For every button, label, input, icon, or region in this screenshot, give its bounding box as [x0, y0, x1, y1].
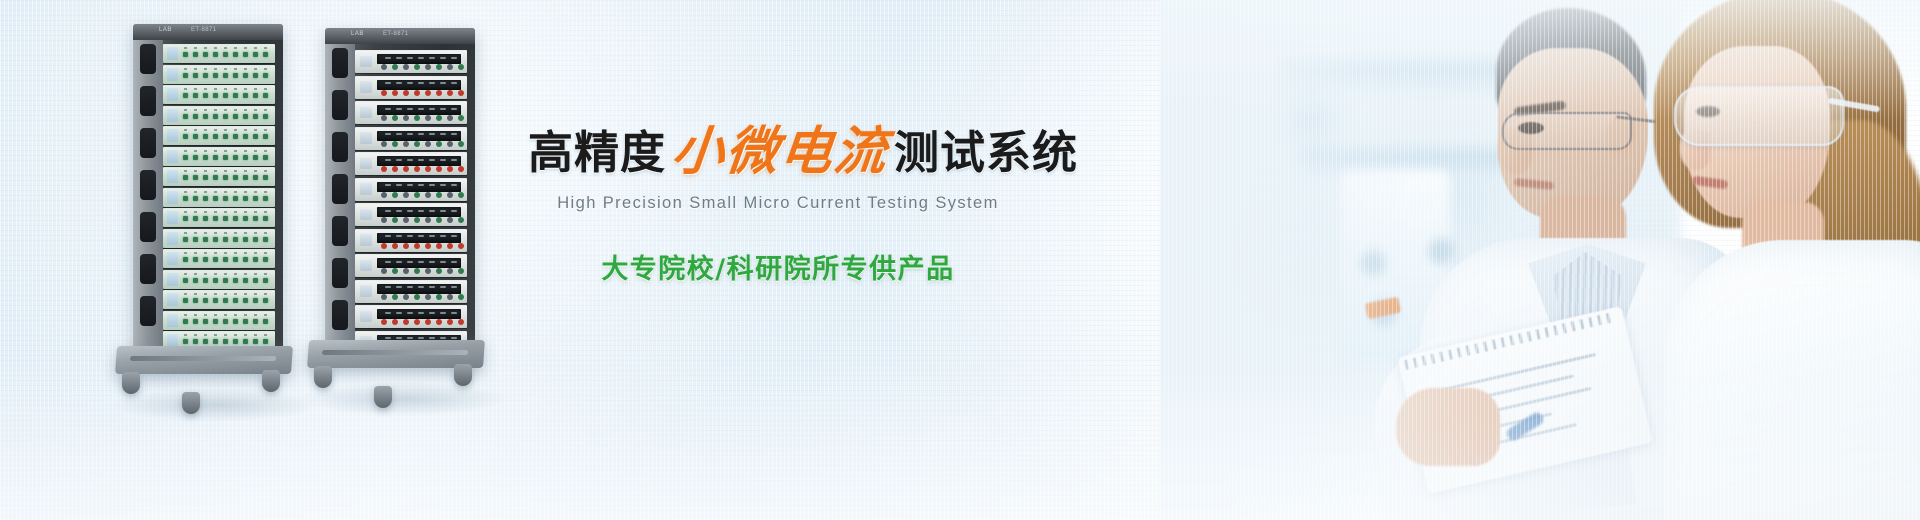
display-digit — [407, 286, 413, 288]
rack-post-slot — [140, 170, 156, 200]
display-digit — [429, 312, 435, 314]
module-tick — [254, 88, 257, 90]
display-digit — [407, 57, 413, 59]
module-channel-port — [213, 175, 218, 180]
rack-top-cap: LAB ET-8871 — [325, 28, 475, 44]
module-channel-port — [183, 298, 188, 303]
rack-post-slot — [332, 90, 348, 120]
module-button — [392, 192, 398, 198]
display-digit — [440, 108, 446, 110]
module-tick — [234, 314, 237, 316]
module-display — [167, 232, 178, 245]
rack-shadow — [110, 388, 320, 422]
display-digit — [429, 57, 435, 59]
module-tick — [224, 68, 227, 70]
headline: 高精度小微电流测试系统 — [528, 126, 1028, 178]
module-tick — [234, 170, 237, 172]
display-digit — [396, 133, 402, 135]
display-digit — [451, 82, 457, 84]
display-digit — [396, 82, 402, 84]
module-button — [436, 268, 442, 274]
module-tick — [254, 150, 257, 152]
module-channel-port — [213, 257, 218, 262]
module-button — [458, 294, 464, 300]
rack-instrument-module — [163, 85, 275, 104]
module-tick — [264, 68, 267, 70]
module-channel-port — [223, 216, 228, 221]
display-digit — [429, 210, 435, 212]
module-knob — [360, 311, 372, 322]
rack-post-slot — [332, 258, 348, 288]
module-channel-port — [243, 155, 248, 160]
module-tick — [264, 191, 267, 193]
display-digit — [396, 286, 402, 288]
module-display — [167, 314, 178, 327]
module-led-display — [377, 182, 461, 192]
module-tick — [234, 68, 237, 70]
module-knob — [360, 260, 372, 271]
module-button — [425, 115, 431, 121]
module-tick — [224, 129, 227, 131]
module-tick — [204, 88, 207, 90]
module-button — [381, 268, 387, 274]
module-tick — [244, 314, 247, 316]
module-tick — [234, 232, 237, 234]
rack-instrument-module — [163, 270, 275, 289]
module-channel-port — [193, 155, 198, 160]
module-tick — [204, 211, 207, 213]
module-channel-port — [203, 257, 208, 262]
module-tick — [194, 68, 197, 70]
rack-instrument-module — [163, 147, 275, 166]
subtitle-english: High Precision Small Micro Current Testi… — [528, 194, 1028, 213]
display-digit — [396, 210, 402, 212]
module-knob — [360, 81, 372, 92]
module-channel-port — [243, 319, 248, 324]
module-tick — [224, 334, 227, 336]
module-button — [392, 243, 398, 249]
display-digit — [440, 210, 446, 212]
display-digit — [451, 312, 457, 314]
module-channel-port — [223, 257, 228, 262]
module-tick — [194, 88, 197, 90]
module-channel-port — [233, 155, 238, 160]
rack-instrument-module — [355, 254, 467, 277]
module-button — [403, 115, 409, 121]
module-tick — [234, 191, 237, 193]
module-tick — [204, 273, 207, 275]
module-button — [458, 90, 464, 96]
module-channel-port — [183, 52, 188, 57]
module-tick — [264, 47, 267, 49]
module-button — [414, 115, 420, 121]
module-button — [447, 141, 453, 147]
module-tick — [214, 47, 217, 49]
module-display — [167, 170, 178, 183]
display-digit — [418, 312, 424, 314]
module-channel-port — [223, 298, 228, 303]
module-channel-port — [263, 298, 268, 303]
module-button — [458, 243, 464, 249]
module-led-display — [377, 284, 461, 294]
module-led-display — [377, 54, 461, 64]
module-tick — [194, 314, 197, 316]
display-digit — [440, 235, 446, 237]
module-display — [167, 293, 178, 306]
rack-post-slot — [332, 174, 348, 204]
module-channel-port — [193, 298, 198, 303]
display-digit — [407, 210, 413, 212]
module-channel-port — [223, 237, 228, 242]
module-tick — [244, 129, 247, 131]
module-button — [447, 192, 453, 198]
module-tick — [204, 129, 207, 131]
module-tick — [194, 293, 197, 295]
module-button — [392, 268, 398, 274]
module-button — [403, 192, 409, 198]
module-channel-port — [193, 52, 198, 57]
module-tick — [214, 314, 217, 316]
module-channel-port — [203, 196, 208, 201]
module-button — [414, 141, 420, 147]
module-tick — [234, 252, 237, 254]
module-channel-port — [223, 52, 228, 57]
display-digit — [407, 82, 413, 84]
rack-instrument-module — [163, 44, 275, 63]
module-channel-port — [223, 278, 228, 283]
module-display — [167, 211, 178, 224]
rack-instrument-module — [163, 188, 275, 207]
display-digit — [407, 108, 413, 110]
module-button — [381, 243, 387, 249]
module-tick — [264, 211, 267, 213]
module-tick — [264, 88, 267, 90]
module-led-display — [377, 309, 461, 319]
module-tick — [204, 191, 207, 193]
module-tick — [244, 150, 247, 152]
module-button — [458, 268, 464, 274]
module-tick — [254, 129, 257, 131]
module-tick — [264, 109, 267, 111]
module-button — [436, 192, 442, 198]
module-channel-port — [263, 339, 268, 344]
rack-instrument-module — [163, 65, 275, 84]
module-channel-port — [263, 52, 268, 57]
module-channel-port — [253, 52, 258, 57]
module-button — [447, 90, 453, 96]
module-button — [436, 141, 442, 147]
module-tick — [184, 68, 187, 70]
module-tick — [264, 170, 267, 172]
module-channel-port — [233, 175, 238, 180]
module-channel-port — [193, 339, 198, 344]
module-channel-port — [193, 73, 198, 78]
display-digit — [407, 261, 413, 263]
module-channel-port — [223, 114, 228, 119]
module-tick — [194, 109, 197, 111]
module-channel-port — [203, 93, 208, 98]
rack-instrument-module — [163, 311, 275, 330]
module-button — [403, 90, 409, 96]
module-tick — [224, 191, 227, 193]
module-channel-port — [223, 93, 228, 98]
module-channel-port — [223, 319, 228, 324]
module-tick — [254, 314, 257, 316]
module-tick — [214, 170, 217, 172]
module-tick — [194, 129, 197, 131]
module-tick — [184, 191, 187, 193]
rack-instrument-module — [163, 167, 275, 186]
module-display — [167, 273, 178, 286]
module-channel-port — [193, 278, 198, 283]
module-channel-port — [203, 155, 208, 160]
display-digit — [451, 235, 457, 237]
module-channel-port — [233, 73, 238, 78]
module-tick — [234, 211, 237, 213]
module-knob — [360, 234, 372, 245]
module-button — [436, 243, 442, 249]
module-channel-port — [193, 319, 198, 324]
module-button — [414, 243, 420, 249]
rack-shadow — [300, 382, 510, 416]
module-tick — [214, 334, 217, 336]
display-digit — [418, 57, 424, 59]
module-tick — [234, 334, 237, 336]
module-button — [403, 268, 409, 274]
module-button — [447, 64, 453, 70]
module-channel-port — [213, 339, 218, 344]
module-button — [392, 319, 398, 325]
module-channel-port — [233, 298, 238, 303]
module-button — [425, 141, 431, 147]
module-channel-port — [213, 73, 218, 78]
module-tick — [234, 273, 237, 275]
module-channel-port — [203, 216, 208, 221]
module-button — [447, 243, 453, 249]
display-digit — [407, 184, 413, 186]
module-channel-port — [253, 216, 258, 221]
module-channel-port — [183, 339, 188, 344]
module-button — [458, 217, 464, 223]
module-channel-port — [243, 175, 248, 180]
module-tick — [184, 273, 187, 275]
module-display — [167, 252, 178, 265]
module-channel-port — [213, 216, 218, 221]
module-tick — [194, 191, 197, 193]
rack-base-rail — [130, 356, 276, 361]
display-digit — [418, 286, 424, 288]
equipment-rack-green: LAB ET-8871 — [133, 24, 283, 354]
module-channel-port — [213, 155, 218, 160]
module-tick — [244, 170, 247, 172]
display-digit — [451, 210, 457, 212]
module-channel-port — [183, 114, 188, 119]
module-channel-port — [183, 278, 188, 283]
display-digit — [451, 108, 457, 110]
module-tick — [244, 88, 247, 90]
module-tick — [224, 273, 227, 275]
module-channel-port — [183, 134, 188, 139]
display-digit — [418, 235, 424, 237]
module-tick — [254, 232, 257, 234]
module-channel-port — [243, 52, 248, 57]
module-button — [414, 192, 420, 198]
display-digit — [451, 184, 457, 186]
rack-instrument-module — [355, 76, 467, 99]
module-channel-port — [243, 278, 248, 283]
module-button — [447, 166, 453, 172]
rack-instrument-module — [355, 152, 467, 175]
module-button — [403, 141, 409, 147]
module-tick — [264, 293, 267, 295]
rack-caster — [122, 372, 140, 394]
module-button — [447, 115, 453, 121]
module-channel-port — [263, 319, 268, 324]
module-channel-port — [253, 339, 258, 344]
module-channel-port — [263, 278, 268, 283]
module-button — [403, 217, 409, 223]
module-tick — [214, 150, 217, 152]
module-tick — [224, 47, 227, 49]
display-digit — [451, 261, 457, 263]
module-button — [458, 115, 464, 121]
headline-part-1: 高精度 — [528, 130, 666, 175]
rack-instrument-module — [355, 203, 467, 226]
display-digit — [451, 133, 457, 135]
module-tick — [194, 170, 197, 172]
display-digit — [429, 337, 435, 339]
rack-instrument-module — [163, 106, 275, 125]
module-button — [392, 217, 398, 223]
module-channel-port — [263, 73, 268, 78]
module-channel-port — [253, 196, 258, 201]
module-channel-port — [253, 155, 258, 160]
rack-base-rail — [322, 350, 468, 355]
module-button — [436, 90, 442, 96]
module-channel-port — [203, 52, 208, 57]
display-digit — [429, 235, 435, 237]
module-button — [447, 294, 453, 300]
module-tick — [194, 252, 197, 254]
module-tick — [214, 252, 217, 254]
display-digit — [418, 108, 424, 110]
display-digit — [396, 184, 402, 186]
module-button — [458, 64, 464, 70]
module-tick — [194, 232, 197, 234]
module-channel-port — [203, 237, 208, 242]
module-tick — [224, 150, 227, 152]
module-button — [447, 268, 453, 274]
module-tick — [184, 252, 187, 254]
module-button — [458, 319, 464, 325]
display-digit — [440, 184, 446, 186]
display-digit — [396, 337, 402, 339]
module-tick — [204, 232, 207, 234]
module-tick — [204, 252, 207, 254]
module-led-display — [377, 80, 461, 90]
module-channel-port — [213, 134, 218, 139]
display-digit — [418, 159, 424, 161]
module-button — [381, 115, 387, 121]
display-digit — [440, 261, 446, 263]
rack-left-post — [133, 24, 163, 354]
module-tick — [264, 232, 267, 234]
module-button — [403, 64, 409, 70]
module-display — [167, 109, 178, 122]
rack-instrument-module — [163, 249, 275, 268]
module-button — [381, 90, 387, 96]
module-tick — [254, 273, 257, 275]
module-channel-port — [183, 319, 188, 324]
rack-post-slot — [140, 86, 156, 116]
module-tick — [184, 334, 187, 336]
module-channel-port — [243, 93, 248, 98]
module-channel-port — [223, 175, 228, 180]
module-channel-port — [223, 73, 228, 78]
module-display — [167, 47, 178, 60]
banner-copy: 高精度小微电流测试系统 High Precision Small Micro C… — [528, 126, 1028, 286]
module-button — [381, 294, 387, 300]
module-tick — [214, 191, 217, 193]
module-button — [414, 90, 420, 96]
module-channel-port — [183, 196, 188, 201]
module-channel-port — [183, 257, 188, 262]
display-digit — [418, 210, 424, 212]
module-button — [425, 294, 431, 300]
module-channel-port — [263, 175, 268, 180]
display-digit — [407, 312, 413, 314]
module-button — [414, 166, 420, 172]
module-knob — [360, 56, 372, 67]
module-channel-port — [233, 319, 238, 324]
module-channel-port — [243, 216, 248, 221]
module-channel-port — [263, 216, 268, 221]
display-digit — [385, 82, 391, 84]
module-tick — [184, 109, 187, 111]
module-tick — [224, 293, 227, 295]
display-digit — [429, 261, 435, 263]
module-channel-port — [233, 278, 238, 283]
rack-caster — [454, 364, 472, 386]
module-channel-port — [183, 73, 188, 78]
module-channel-port — [243, 339, 248, 344]
module-button — [392, 64, 398, 70]
module-tick — [244, 252, 247, 254]
rack-instrument-module — [355, 229, 467, 252]
module-channel-port — [233, 196, 238, 201]
rack-top-cap: LAB ET-8871 — [133, 24, 283, 40]
module-tick — [204, 170, 207, 172]
module-channel-port — [213, 93, 218, 98]
module-channel-port — [203, 114, 208, 119]
module-channel-port — [233, 134, 238, 139]
module-channel-port — [253, 298, 258, 303]
module-button — [447, 217, 453, 223]
module-button — [414, 268, 420, 274]
module-tick — [234, 129, 237, 131]
module-button — [392, 141, 398, 147]
module-tick — [204, 293, 207, 295]
module-button — [425, 319, 431, 325]
module-tick — [264, 252, 267, 254]
display-digit — [429, 82, 435, 84]
module-channel-port — [263, 93, 268, 98]
rack-instrument-module — [163, 208, 275, 227]
module-tick — [234, 293, 237, 295]
module-button — [436, 294, 442, 300]
module-tick — [254, 68, 257, 70]
display-digit — [396, 261, 402, 263]
